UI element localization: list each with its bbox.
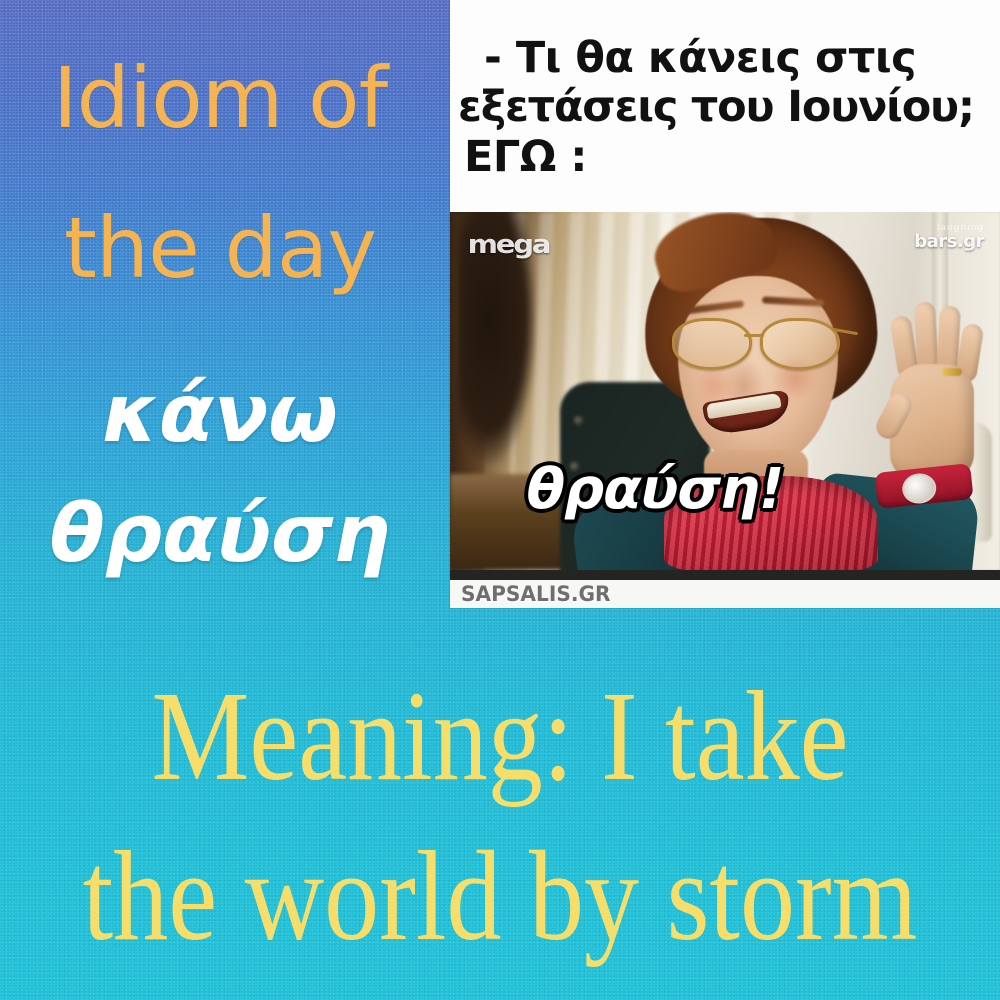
woman-nose — [724, 358, 764, 398]
footer-watermark-text: SAPSALIS.GR — [453, 582, 610, 606]
meme-question-block: - Τι θα κάνεις στις εξετάσεις του Ιουνίο… — [450, 0, 1000, 212]
meme-question-line-3: ΕΓΩ : — [458, 133, 992, 182]
glasses-lens-right — [760, 318, 840, 370]
poster-canvas: Idiom of the day κάνω θραύση Meaning: I … — [0, 0, 1000, 1000]
meme-question-line-1: - Τι θα κάνεις στις — [458, 34, 992, 83]
chair-stud — [574, 416, 583, 425]
meme-footer-bar: SAPSALIS.GR — [450, 580, 1000, 608]
headline-line-1: Idiom of — [0, 56, 440, 140]
headline-line-2: the day — [0, 206, 440, 290]
site-watermark-main-text: bars.gr — [914, 233, 984, 252]
meaning-line-2: the world by storm — [70, 832, 930, 960]
meme-photo-caption: θραύση! — [450, 462, 1000, 518]
glasses-bridge — [744, 334, 764, 337]
mega-channel-logo-icon: mega — [468, 230, 550, 260]
meme-question-line-2: εξετάσεις του Ιουνίου; — [458, 83, 992, 132]
meme-panel: - Τι θα κάνεις στις εξετάσεις του Ιουνίο… — [450, 0, 1000, 608]
idiom-line-1: κάνω — [0, 374, 440, 454]
site-watermark: laughing bars.gr — [914, 224, 984, 252]
meme-photo: mega laughing bars.gr θραύση! — [450, 212, 1000, 570]
hand-ring — [942, 368, 962, 376]
idiom-line-2: θραύση — [0, 494, 440, 574]
meme-dark-strip — [450, 570, 1000, 580]
meaning-line-1: Meaning: I take — [70, 672, 930, 800]
